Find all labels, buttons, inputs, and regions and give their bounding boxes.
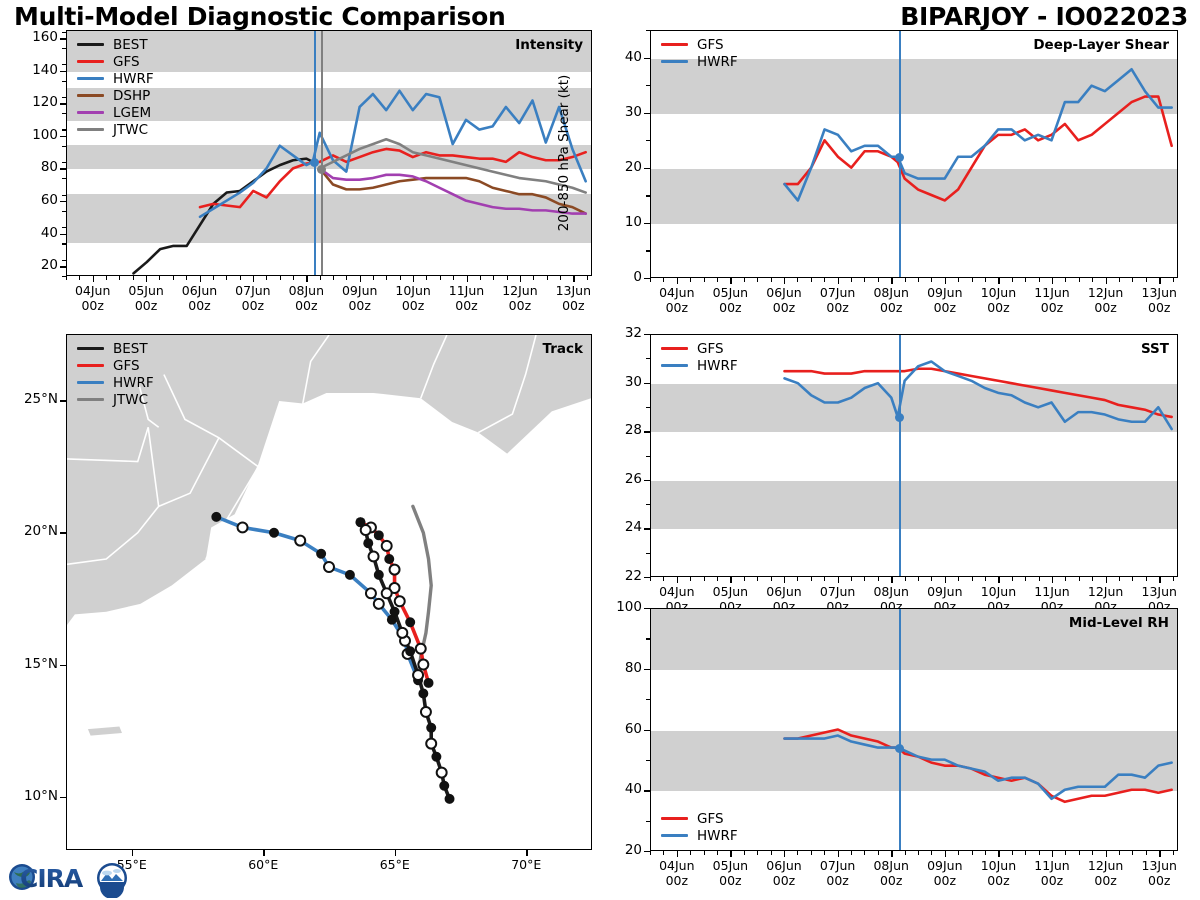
cira-logo: CIRA [6, 856, 130, 898]
xtick-day: 08Jun [873, 285, 908, 300]
series-line-hwrf [785, 362, 1172, 429]
ytick-minor-mark [62, 195, 66, 196]
track-marker-open [397, 628, 407, 638]
xtick-minor-mark [1146, 851, 1147, 855]
xtick-minor-mark [677, 577, 678, 581]
xtick-minor-mark [650, 577, 651, 581]
legend-label-jtwc: JTWC [113, 122, 148, 138]
legend-entry-jtwc: JTWC [77, 121, 154, 138]
ytick-label-intensity: 40 [14, 225, 58, 241]
series-line-gfs [785, 97, 1172, 201]
xtick-hour: 00z [242, 298, 264, 313]
ytick-minor-mark [646, 358, 650, 359]
legend-swatch-jtwc [77, 398, 104, 401]
legend-swatch-best [77, 347, 104, 350]
xtick-minor-mark [119, 276, 120, 280]
xtick-minor-mark [931, 278, 932, 282]
xtick-hour: 00z [934, 873, 956, 888]
xtick-day: 08Jun [873, 858, 908, 873]
xtick-minor-mark [293, 276, 294, 280]
xtick-day: 07Jun [820, 584, 855, 599]
ytick-mark [60, 266, 66, 267]
xtick-minor-mark [771, 278, 772, 282]
xtick-minor-mark [173, 276, 174, 280]
xtick-minor-mark [1012, 577, 1013, 581]
xtick-day: 10Jun [395, 283, 430, 298]
legend-shear: GFSHWRF [661, 36, 738, 70]
xtick-minor-mark [663, 577, 664, 581]
xtick-minor-mark [493, 276, 494, 280]
xtick-minor-mark [1052, 278, 1053, 282]
xtick-day: 10Jun [981, 285, 1016, 300]
legend-swatch-gfs [661, 43, 688, 46]
ytick-label-sst: 24 [598, 519, 642, 535]
xtick-hour: 00z [987, 873, 1009, 888]
legend-label-best: BEST [113, 37, 148, 53]
ytick-minor-mark [646, 456, 650, 457]
ytick-minor-mark [646, 85, 650, 86]
series-line-jtwc [320, 139, 586, 192]
xtick-minor-mark [66, 276, 67, 280]
ytick-minor-mark [646, 195, 650, 196]
xtick-minor-mark [587, 276, 588, 280]
xtick-minor-mark [851, 278, 852, 282]
track-marker-open [426, 739, 436, 749]
track-marker-open [374, 599, 384, 609]
xtick-day: 05Jun [713, 285, 748, 300]
xtick-minor-mark [1146, 278, 1147, 282]
ytick-minor-mark [646, 504, 650, 505]
xtick-minor-mark [838, 278, 839, 282]
track-marker-filled [316, 549, 326, 559]
xtick-minor-mark [186, 276, 187, 280]
xtick-minor-mark [958, 851, 959, 855]
xtick-minor-mark [945, 577, 946, 581]
ytick-minor-mark [646, 638, 650, 639]
analysis-time-line [899, 609, 901, 850]
xtick-minor-mark [878, 278, 879, 282]
legend-label-lgem: LGEM [113, 105, 151, 121]
xtick-day: 06Jun [766, 584, 801, 599]
track-marker-open [382, 541, 392, 551]
xtick-minor-mark [1025, 577, 1026, 581]
xtick-minor-mark [757, 577, 758, 581]
ytick-label-shear: 20 [598, 159, 642, 175]
xtick-minor-mark [1146, 577, 1147, 581]
xtick-minor-mark [333, 276, 334, 280]
legend-swatch-hwrf [77, 77, 104, 80]
panel-title-track: Track [543, 341, 583, 357]
xtick-minor-mark [771, 851, 772, 855]
xtick-day: 11Jun [1034, 858, 1069, 873]
xtick-day: 11Jun [1034, 584, 1069, 599]
track-marker-open [421, 707, 431, 717]
xtick-minor-mark [1092, 278, 1093, 282]
legend-label-gfs: GFS [697, 811, 724, 827]
track-marker-filled [418, 689, 428, 699]
ytick-minor-mark [62, 113, 66, 114]
xtick-mark [526, 850, 527, 856]
xtick-minor-mark [757, 278, 758, 282]
xtick-minor-mark [1065, 851, 1066, 855]
track-marker-filled [390, 607, 400, 617]
xtick-minor-mark [891, 851, 892, 855]
ytick-mark [60, 168, 66, 169]
legend-entry-dshp: DSHP [77, 87, 154, 104]
xtick-minor-mark [200, 276, 201, 280]
ytick-minor-mark [62, 129, 66, 130]
ytick-minor-mark [62, 32, 66, 33]
xtick-label: 13Jun00z [1125, 859, 1193, 889]
xtick-minor-mark [931, 851, 932, 855]
plot-area-sst: SSTGFSHWRF [650, 334, 1178, 577]
ytick-minor-mark [62, 178, 66, 179]
xtick-day: 12Jun [502, 283, 537, 298]
xtick-hour: 00z [188, 298, 210, 313]
legend-entry-best: BEST [77, 340, 154, 357]
ytick-label-sst: 26 [598, 471, 642, 487]
xtick-minor-mark [905, 577, 906, 581]
legend-swatch-hwrf [661, 834, 688, 837]
xtick-minor-mark [1106, 851, 1107, 855]
xtick-minor-mark [1106, 278, 1107, 282]
analysis-time-line [314, 31, 316, 275]
ytick-mark [60, 532, 66, 533]
xtick-minor-mark [824, 278, 825, 282]
legend-label-hwrf: HWRF [697, 358, 738, 374]
xtick-minor-mark [931, 577, 932, 581]
ytick-label-shear: 10 [598, 214, 642, 230]
ytick-label-track: 20°N [0, 523, 58, 539]
xtick-minor-mark [1106, 577, 1107, 581]
xtick-minor-mark [757, 851, 758, 855]
xtick-hour: 00z [773, 300, 795, 315]
xtick-minor-mark [467, 276, 468, 280]
xtick-hour: 00z [934, 300, 956, 315]
ytick-label-intensity: 120 [14, 94, 58, 110]
xtick-minor-mark [400, 276, 401, 280]
xtick-day: 05Jun [128, 283, 163, 298]
xtick-label: 13Jun00z [1125, 286, 1193, 316]
xtick-day: 13Jun [1142, 584, 1177, 599]
xtick-minor-mark [744, 577, 745, 581]
xtick-minor-mark [704, 577, 705, 581]
legend-label-hwrf: HWRF [113, 375, 154, 391]
xtick-minor-mark [811, 577, 812, 581]
xtick-mark [395, 850, 396, 856]
series-line-gfs [785, 730, 1172, 802]
xtick-minor-mark [811, 278, 812, 282]
ytick-minor-mark [62, 146, 66, 147]
ytick-mark [60, 400, 66, 401]
xtick-minor-mark [253, 276, 254, 280]
xtick-minor-mark [1012, 278, 1013, 282]
track-marker-open [369, 551, 379, 561]
legend-entry-hwrf: HWRF [661, 53, 738, 70]
xtick-minor-mark [918, 851, 919, 855]
track-marker-open [418, 660, 428, 670]
ytick-minor-mark [62, 162, 66, 163]
xtick-minor-mark [520, 276, 521, 280]
ytick-label-intensity: 140 [14, 62, 58, 78]
xtick-minor-mark [717, 278, 718, 282]
xtick-minor-mark [453, 276, 454, 280]
xtick-minor-mark [1132, 577, 1133, 581]
xtick-hour: 00z [562, 298, 584, 313]
xtick-minor-mark [93, 276, 94, 280]
xtick-minor-mark [838, 577, 839, 581]
legend-entry-gfs: GFS [661, 810, 738, 827]
xtick-minor-mark [717, 577, 718, 581]
legend-entry-hwrf: HWRF [661, 357, 738, 374]
legend-label-gfs: GFS [113, 358, 140, 374]
legend-swatch-gfs [77, 364, 104, 367]
ytick-label-intensity: 80 [14, 159, 58, 175]
xtick-minor-mark [213, 276, 214, 280]
xtick-minor-mark [1039, 851, 1040, 855]
series-line-gfs [785, 369, 1172, 417]
xtick-hour: 00z [1094, 300, 1116, 315]
legend-swatch-gfs [77, 60, 104, 63]
xtick-minor-mark [784, 278, 785, 282]
legend-swatch-hwrf [77, 381, 104, 384]
ytick-minor-mark [646, 140, 650, 141]
xtick-mark [263, 850, 264, 856]
ytick-minor-mark [646, 760, 650, 761]
ytick-label-rh: 80 [598, 660, 642, 676]
track-marker-filled [426, 723, 436, 733]
xtick-hour: 00z [719, 873, 741, 888]
ytick-minor-mark [62, 64, 66, 65]
legend-label-dshp: DSHP [113, 88, 150, 104]
ytick-minor-mark [62, 227, 66, 228]
xtick-minor-mark [386, 276, 387, 280]
track-marker-filled [405, 646, 415, 656]
xtick-minor-mark [1132, 278, 1133, 282]
track-marker-open [413, 670, 423, 680]
xtick-minor-mark [1079, 851, 1080, 855]
xtick-minor-mark [730, 577, 731, 581]
legend-entry-gfs: GFS [661, 340, 738, 357]
track-marker-filled [345, 570, 355, 580]
track-marker-open [416, 644, 426, 654]
xtick-minor-mark [958, 278, 959, 282]
xtick-day: 11Jun [449, 283, 484, 298]
xtick-minor-mark [891, 278, 892, 282]
page-title-right: BIPARJOY - IO022023 [900, 2, 1188, 31]
ytick-minor-mark [646, 250, 650, 251]
ytick-mark [60, 797, 66, 798]
xtick-day: 11Jun [1034, 285, 1069, 300]
xtick-minor-mark [797, 577, 798, 581]
xtick-minor-mark [573, 276, 574, 280]
ytick-label-intensity: 100 [14, 127, 58, 143]
xtick-day: 13Jun [1142, 285, 1177, 300]
xtick-minor-mark [1173, 278, 1174, 282]
ytick-minor-mark [646, 383, 650, 384]
xtick-minor-mark [480, 276, 481, 280]
xtick-minor-mark [824, 577, 825, 581]
ytick-label-shear: 0 [598, 269, 642, 285]
ytick-minor-mark [646, 168, 650, 169]
xtick-day: 05Jun [713, 858, 748, 873]
series-line-hwrf [785, 736, 1172, 799]
xtick-minor-mark [1052, 577, 1053, 581]
ytick-minor-mark [646, 480, 650, 481]
track-marker-filled [431, 752, 441, 762]
xtick-minor-mark [677, 278, 678, 282]
xtick-minor-mark [1119, 851, 1120, 855]
series-line-dshp [320, 168, 586, 213]
plot-area-rh: Mid-Level RHGFSHWRF [650, 608, 1178, 851]
legend-swatch-gfs [661, 817, 688, 820]
ytick-label-sst: 30 [598, 374, 642, 390]
xtick-minor-mark [1065, 577, 1066, 581]
xtick-hour: 00z [455, 298, 477, 313]
legend-label-hwrf: HWRF [113, 71, 154, 87]
xtick-mark [132, 850, 133, 856]
legend-rh: GFSHWRF [661, 810, 738, 844]
xtick-minor-mark [690, 278, 691, 282]
ytick-label-intensity: 20 [14, 257, 58, 273]
xtick-minor-mark [690, 577, 691, 581]
xtick-minor-mark [1092, 851, 1093, 855]
xtick-minor-mark [985, 851, 986, 855]
legend-swatch-dshp [77, 94, 104, 97]
xtick-minor-mark [106, 276, 107, 280]
track-marker-open [324, 562, 334, 572]
ytick-minor-mark [646, 730, 650, 731]
ytick-minor-mark [646, 407, 650, 408]
xtick-minor-mark [1065, 278, 1066, 282]
ytick-minor-mark [646, 431, 650, 432]
xtick-day: 09Jun [927, 584, 962, 599]
track-marker-open [437, 768, 447, 778]
track-marker-filled [374, 530, 384, 540]
track-marker-filled [211, 512, 221, 522]
landmass-polygon [88, 726, 122, 735]
xtick-minor-mark [864, 278, 865, 282]
legend-entry-hwrf: HWRF [77, 70, 154, 87]
xtick-minor-mark [864, 577, 865, 581]
xtick-minor-mark [1173, 577, 1174, 581]
xtick-minor-mark [744, 278, 745, 282]
legend-entry-hwrf: HWRF [77, 374, 154, 391]
yaxis-label-shear: 200-850 hPa Shear (kt) [556, 29, 572, 277]
xtick-day: 12Jun [1088, 285, 1123, 300]
xtick-minor-mark [905, 851, 906, 855]
ytick-minor-mark [646, 334, 650, 335]
ytick-minor-mark [646, 608, 650, 609]
ytick-mark [60, 71, 66, 72]
track-marker-filled [424, 678, 434, 688]
xtick-day: 07Jun [235, 283, 270, 298]
legend-label-hwrf: HWRF [697, 54, 738, 70]
ytick-label-sst: 22 [598, 568, 642, 584]
xtick-minor-mark [704, 851, 705, 855]
ytick-minor-mark [646, 113, 650, 114]
xtick-minor-mark [891, 577, 892, 581]
ytick-minor-mark [646, 528, 650, 529]
legend-label-hwrf: HWRF [697, 828, 738, 844]
series-line-hwrf [785, 69, 1172, 200]
xtick-minor-mark [440, 276, 441, 280]
xtick-minor-mark [146, 276, 147, 280]
xtick-day: 06Jun [182, 283, 217, 298]
ytick-mark [60, 201, 66, 202]
xtick-day: 10Jun [981, 858, 1016, 873]
series-line-hwrf [200, 91, 586, 217]
xtick-minor-mark [730, 851, 731, 855]
ytick-minor-mark [646, 790, 650, 791]
ytick-mark [60, 136, 66, 137]
xtick-day: 08Jun [873, 584, 908, 599]
legend-swatch-hwrf [661, 60, 688, 63]
xtick-minor-mark [547, 276, 548, 280]
xtick-hour: 00z [1148, 873, 1170, 888]
legend-entry-jtwc: JTWC [77, 391, 154, 408]
track-marker-filled [439, 781, 449, 791]
xtick-minor-mark [1159, 278, 1160, 282]
xtick-hour: 00z [1041, 300, 1063, 315]
ytick-mark [60, 234, 66, 235]
legend-label-gfs: GFS [697, 341, 724, 357]
ytick-minor-mark [62, 97, 66, 98]
panel-title-shear: Deep-Layer Shear [1033, 37, 1169, 53]
xtick-hour: 00z [135, 298, 157, 313]
xtick-hour: 00z [719, 300, 741, 315]
xtick-minor-mark [878, 851, 879, 855]
legend-entry-lgem: LGEM [77, 104, 154, 121]
xtick-minor-mark [945, 278, 946, 282]
xtick-minor-mark [985, 577, 986, 581]
ytick-label-rh: 60 [598, 721, 642, 737]
track-marker-filled [355, 517, 365, 527]
xtick-hour: 00z [987, 300, 1009, 315]
xtick-minor-mark [1052, 851, 1053, 855]
xtick-minor-mark [413, 276, 414, 280]
legend-swatch-jtwc [77, 128, 104, 131]
legend-entry-hwrf: HWRF [661, 827, 738, 844]
ytick-minor-mark [62, 260, 66, 261]
ytick-mark [60, 665, 66, 666]
ytick-minor-mark [646, 821, 650, 822]
xtick-hour: 00z [826, 300, 848, 315]
ytick-label-shear: 40 [598, 49, 642, 65]
ytick-label-intensity: 160 [14, 29, 58, 45]
legend-entry-gfs: GFS [77, 357, 154, 374]
xtick-minor-mark [650, 851, 651, 855]
xtick-hour: 00z [509, 298, 531, 313]
xtick-minor-mark [1012, 851, 1013, 855]
xtick-hour: 00z [81, 298, 103, 313]
xtick-minor-mark [426, 276, 427, 280]
xtick-minor-mark [905, 278, 906, 282]
xtick-minor-mark [663, 851, 664, 855]
ytick-mark [60, 103, 66, 104]
legend-swatch-hwrf [661, 364, 688, 367]
legend-label-gfs: GFS [113, 54, 140, 70]
series-line-lgem [320, 168, 586, 213]
ytick-minor-mark [646, 553, 650, 554]
xtick-hour: 00z [1094, 873, 1116, 888]
xtick-day: 06Jun [766, 285, 801, 300]
xtick-minor-mark [958, 577, 959, 581]
xtick-minor-mark [690, 851, 691, 855]
xtick-minor-mark [1092, 577, 1093, 581]
xtick-minor-mark [1119, 278, 1120, 282]
xtick-minor-mark [784, 577, 785, 581]
